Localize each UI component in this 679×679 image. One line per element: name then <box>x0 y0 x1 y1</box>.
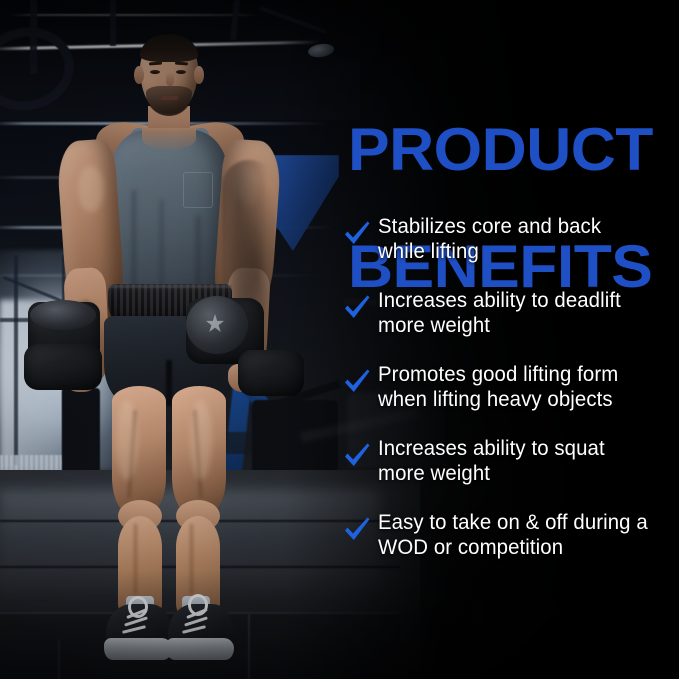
check-icon <box>342 293 372 323</box>
list-item-label: Increases ability to deadlift more weigh… <box>378 289 650 339</box>
benefits-list: Stabilizes core and back while lifting I… <box>342 215 679 585</box>
check-icon <box>342 515 372 545</box>
check-icon <box>342 367 372 397</box>
list-item-label: Easy to take on & off during a WOD or co… <box>378 511 650 561</box>
check-icon <box>342 219 372 249</box>
check-icon <box>342 441 372 471</box>
list-item: Stabilizes core and back while lifting <box>342 215 679 269</box>
list-item: Easy to take on & off during a WOD or co… <box>342 511 679 565</box>
list-item: Increases ability to squat more weight <box>342 437 679 491</box>
product-benefits-poster: PRODUCT BENEFITS Stabilizes core and bac… <box>0 0 679 679</box>
list-item-label: Stabilizes core and back while lifting <box>378 215 650 265</box>
list-item: Promotes good lifting form when lifting … <box>342 363 679 417</box>
title-line-1: PRODUCT <box>348 121 653 180</box>
list-item-label: Promotes good lifting form when lifting … <box>378 363 650 413</box>
benefits-panel: PRODUCT BENEFITS Stabilizes core and bac… <box>342 0 679 679</box>
list-item: Increases ability to deadlift more weigh… <box>342 289 679 343</box>
list-item-label: Increases ability to squat more weight <box>378 437 650 487</box>
